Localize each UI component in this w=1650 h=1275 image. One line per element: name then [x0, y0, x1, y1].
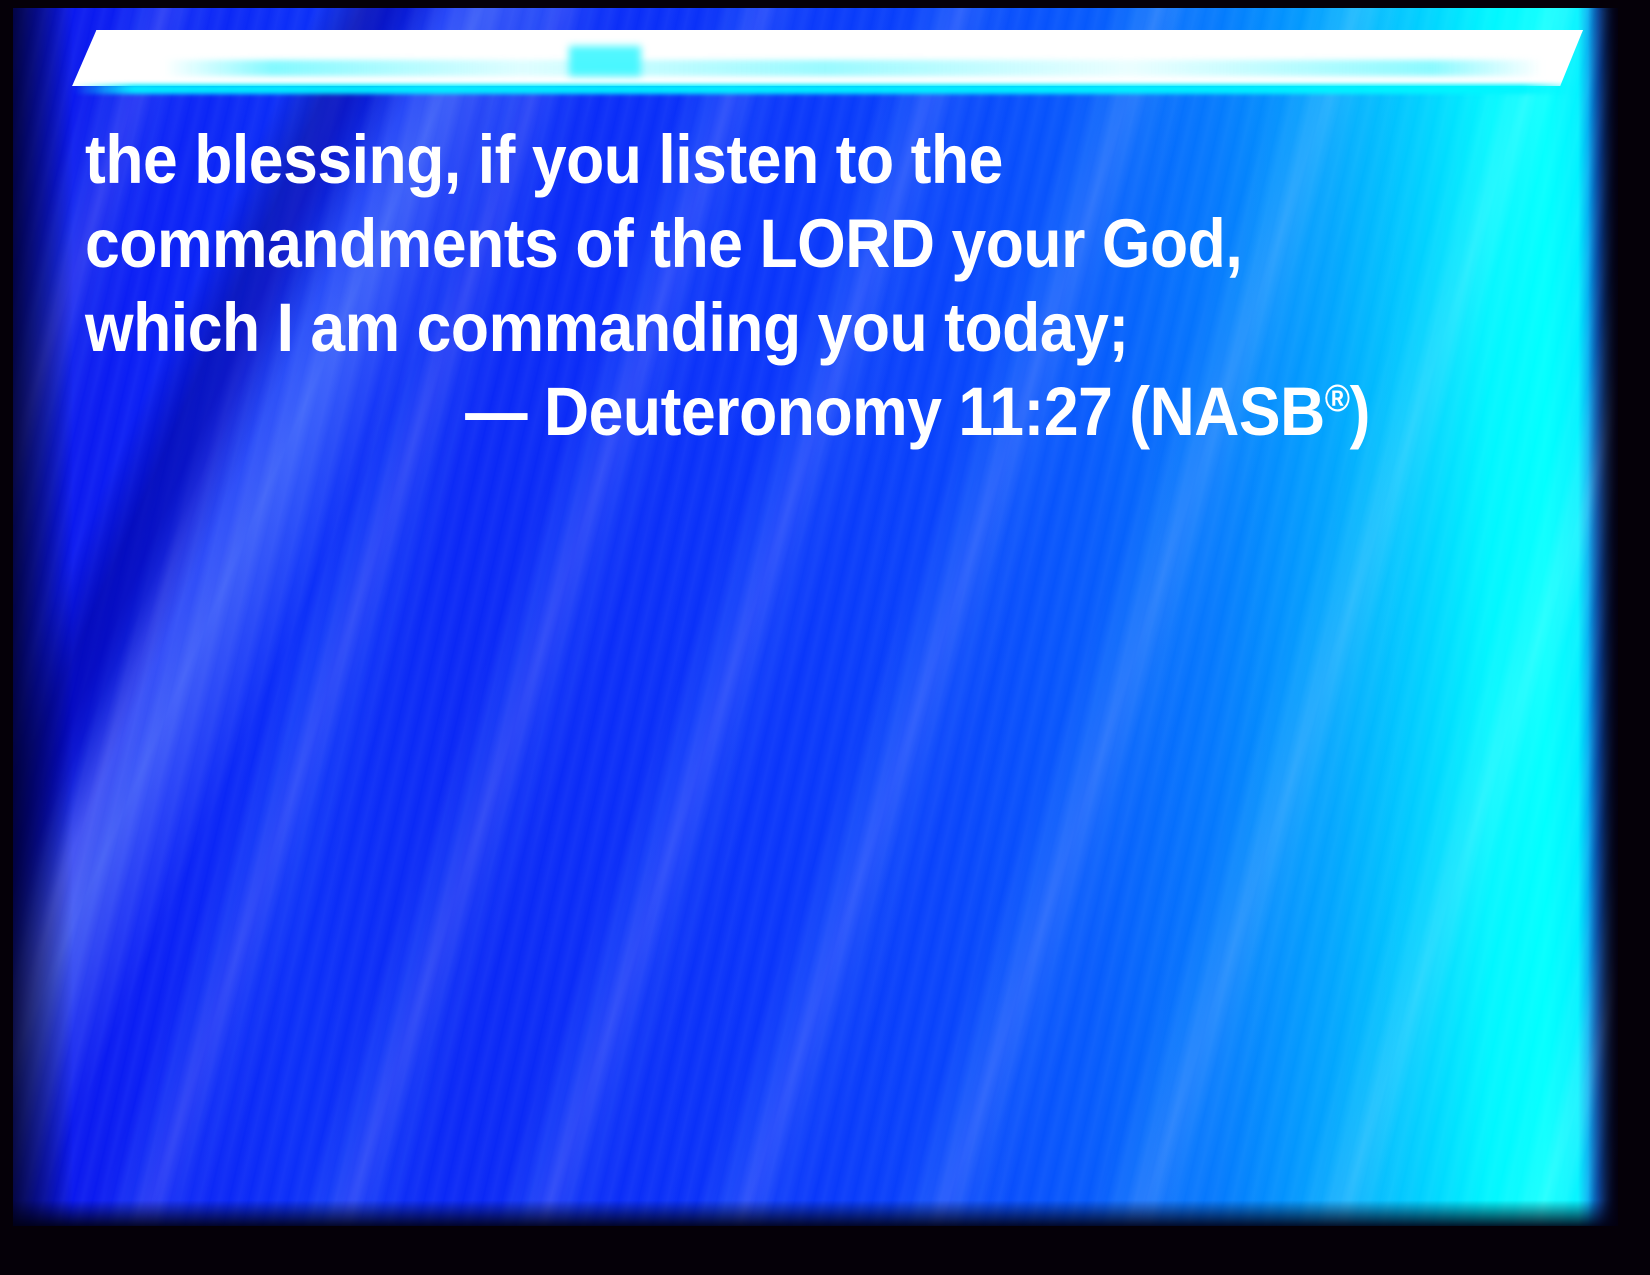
verse-attribution: — Deuteronomy 11:27 (NASB®) [85, 370, 1397, 454]
bottom-edge-shading [13, 1200, 1618, 1226]
attribution-book: Deuteronomy [544, 373, 942, 450]
top-glow-bar [63, 30, 1583, 86]
verse-text-block: the blessing, if you listen to the comma… [85, 118, 1535, 454]
attribution-dash: — [465, 373, 527, 450]
verse-slide: the blessing, if you listen to the comma… [0, 0, 1650, 1275]
left-edge-shading [13, 8, 73, 1226]
attribution-reference: 11:27 [958, 373, 1112, 450]
top-glow-bar-cyan-streak [163, 60, 1543, 76]
registered-trademark-icon: ® [1325, 378, 1350, 420]
attribution-translation-open: (NASB [1129, 373, 1324, 450]
top-glow-bar-notch [569, 46, 641, 76]
verse-line-2: commandments of the LORD your God, [85, 202, 1397, 286]
right-edge-shading [1588, 8, 1618, 1226]
verse-line-3: which I am commanding you today; [85, 286, 1397, 370]
top-glow-underline [73, 84, 1583, 94]
verse-line-1: the blessing, if you listen to the [85, 118, 1397, 202]
attribution-translation-close: ) [1350, 373, 1370, 450]
